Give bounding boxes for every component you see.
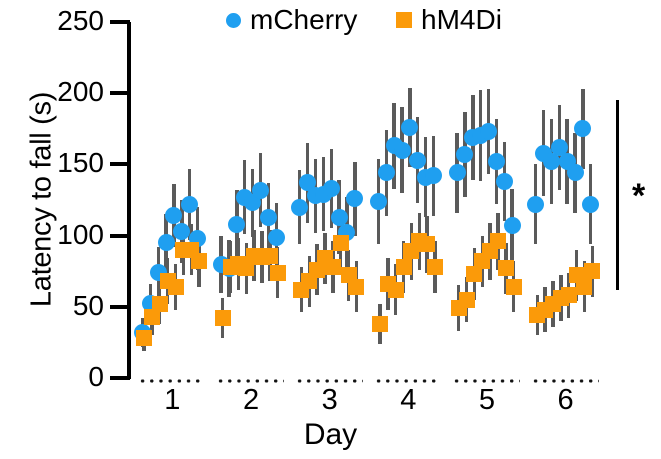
x-tick-label-2: 2	[231, 386, 271, 415]
data-point-hm4di	[506, 279, 522, 295]
data-point-hm4di	[372, 316, 388, 332]
x-axis-label: Day	[0, 420, 661, 450]
x-tick-label-1: 1	[152, 386, 192, 415]
data-point-mcherry	[394, 142, 411, 159]
data-point-mcherry	[181, 196, 198, 213]
data-point-hm4di	[348, 279, 364, 295]
data-point-hm4di	[152, 296, 168, 312]
data-point-hm4di	[498, 260, 514, 276]
data-point-mcherry	[260, 209, 277, 226]
data-point-hm4di	[490, 233, 506, 249]
data-point-hm4di	[215, 310, 231, 326]
significance-asterisk: *	[632, 179, 645, 213]
data-point-mcherry	[291, 199, 308, 216]
x-tick-label-5: 5	[467, 386, 507, 415]
data-point-mcherry	[331, 209, 348, 226]
data-point-hm4di	[136, 330, 152, 346]
data-point-mcherry	[496, 173, 513, 190]
data-point-mcherry	[323, 180, 340, 197]
data-point-hm4di	[396, 259, 412, 275]
data-point-hm4di	[584, 263, 600, 279]
data-point-hm4di	[333, 235, 349, 251]
data-point-hm4di	[576, 279, 592, 295]
data-point-mcherry	[582, 196, 599, 213]
data-point-hm4di	[262, 248, 278, 264]
x-tick-label-6: 6	[546, 386, 586, 415]
data-point-mcherry	[228, 216, 245, 233]
x-axis-segment-day-1	[138, 379, 206, 383]
data-point-mcherry	[488, 153, 505, 170]
x-axis-segment-day-4	[374, 379, 442, 383]
data-point-mcherry	[574, 120, 591, 137]
data-point-hm4di	[427, 259, 443, 275]
data-point-mcherry	[567, 164, 584, 181]
data-point-hm4di	[419, 236, 435, 252]
data-point-hm4di	[325, 259, 341, 275]
data-point-hm4di	[388, 282, 404, 298]
x-tick-label-3: 3	[310, 386, 350, 415]
data-point-mcherry	[158, 234, 175, 251]
significance-bar	[616, 100, 619, 289]
data-point-mcherry	[504, 217, 521, 234]
chart-figure: mCherry hM4Di Latency to fall (s) 050100…	[0, 0, 661, 459]
data-point-mcherry	[268, 229, 285, 246]
data-point-mcherry	[425, 167, 442, 184]
data-point-hm4di	[561, 287, 577, 303]
data-point-hm4di	[168, 279, 184, 295]
data-point-mcherry	[409, 152, 426, 169]
data-point-hm4di	[459, 292, 475, 308]
data-point-hm4di	[191, 253, 207, 269]
data-point-hm4di	[270, 265, 286, 281]
x-axis-segment-day-2	[216, 379, 284, 383]
data-point-mcherry	[252, 182, 269, 199]
x-axis-segment-day-3	[295, 379, 363, 383]
data-point-mcherry	[527, 196, 544, 213]
x-tick-label-4: 4	[388, 386, 428, 415]
x-axis-segment-day-6	[531, 379, 599, 383]
data-point-mcherry	[370, 193, 387, 210]
x-axis-segment-day-5	[452, 379, 520, 383]
data-point-mcherry	[173, 223, 190, 240]
data-point-mcherry	[346, 190, 363, 207]
data-point-mcherry	[449, 164, 466, 181]
